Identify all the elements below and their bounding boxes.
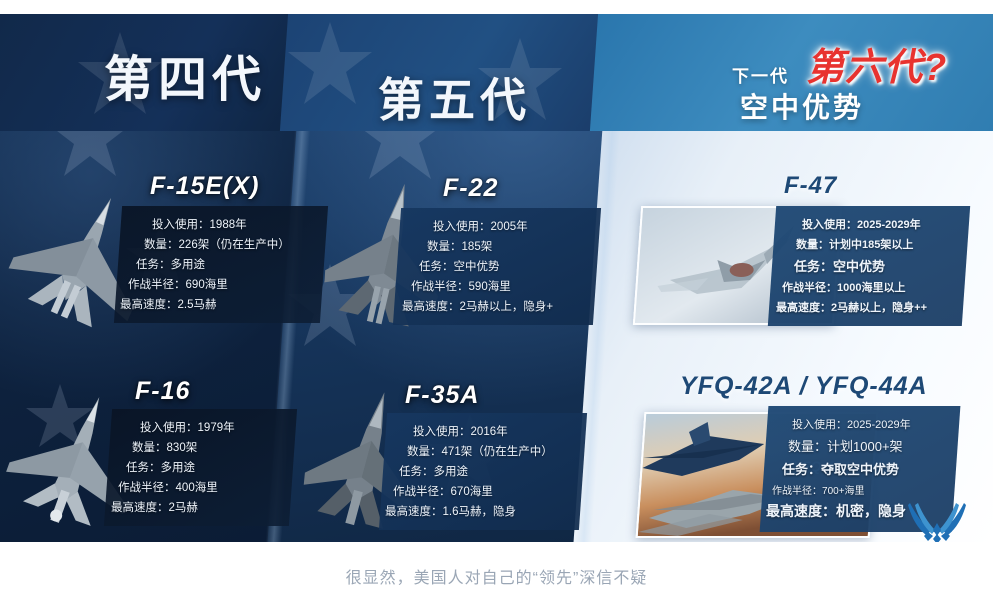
aircraft-specs-f47: 投入使用：2025-2029年 数量：计划中185架以上 任务：空中优势 作战半…	[768, 206, 970, 326]
spec-mission: 任务：空中优势	[794, 256, 950, 275]
aircraft-specs-f22: 投入使用：2005年 数量：185架 任务：空中优势 作战半径：590海里 最高…	[393, 208, 601, 325]
spec-top-speed: 最高速度：2马赫以上，隐身+	[402, 298, 581, 314]
spec-service-entry: 投入使用：2025-2029年	[802, 216, 950, 232]
gen6-air-superiority-label: 空中优势	[740, 86, 864, 126]
aircraft-name-f22: F-22	[443, 174, 498, 203]
spec-quantity: 数量：830架	[132, 439, 277, 455]
spec-service-entry: 投入使用：2016年	[413, 423, 567, 439]
spec-mission: 任务：多用途	[126, 459, 277, 475]
aircraft-name-yfq: YFQ-42A / YFQ-44A	[680, 372, 928, 401]
aircraft-specs-f15: 投入使用：1988年 数量：226架（仍在生产中） 任务：多用途 作战半径：69…	[114, 206, 328, 323]
spec-combat-radius: 作战半径：670海里	[393, 483, 567, 499]
spec-mission: 任务：夺取空中优势	[782, 459, 940, 478]
spec-top-speed: 最高速度：1.6马赫，隐身	[385, 503, 567, 519]
aircraft-name-f35: F-35A	[405, 381, 479, 410]
spec-service-entry: 投入使用：1979年	[140, 419, 277, 435]
page-title-gen6-group: 下一代 第六代? 空中优势	[700, 36, 950, 128]
aircraft-name-f47: F-47	[784, 172, 837, 200]
spec-service-entry: 投入使用：1988年	[152, 216, 308, 232]
aircraft-name-f15: F-15E(X)	[150, 172, 259, 201]
spec-top-speed: 最高速度：2马赫以上，隐身++	[776, 299, 950, 315]
spec-quantity: 数量：计划中185架以上	[796, 236, 950, 252]
spec-service-entry: 投入使用：2025-2029年	[792, 416, 940, 432]
spec-top-speed: 最高速度：2马赫	[111, 499, 277, 515]
gen6-next-generation-label: 下一代	[732, 62, 789, 87]
spec-quantity: 数量：计划1000+架	[788, 436, 940, 455]
spec-mission: 任务：空中优势	[419, 258, 581, 274]
spec-quantity: 数量：471架（仍在生产中）	[407, 443, 567, 459]
infographic-canvas: 第四代 第五代 下一代 第六代? 空中优势 F-15E(X) 投入使用：1988…	[0, 14, 993, 542]
aircraft-specs-f35: 投入使用：2016年 数量：471架（仍在生产中） 任务：多用途 作战半径：67…	[379, 413, 587, 530]
spec-combat-radius: 作战半径：690海里	[128, 276, 308, 292]
page-title-gen4: 第四代	[104, 40, 266, 111]
spec-mission: 任务：多用途	[136, 256, 308, 272]
page-title-gen5: 第五代	[378, 64, 531, 130]
usaf-wings-logo-icon	[906, 501, 968, 542]
spec-service-entry: 投入使用：2005年	[433, 218, 581, 234]
spec-combat-radius: 作战半径：590海里	[411, 278, 581, 294]
spec-quantity: 数量：185架	[427, 238, 581, 254]
spec-combat-radius: 作战半径：700+海里	[772, 482, 940, 497]
generation-header-band: 第四代 第五代 下一代 第六代? 空中优势	[0, 14, 993, 131]
spec-top-speed: 最高速度：2.5马赫	[120, 296, 308, 312]
gen6-headline-label: 第六代?	[806, 36, 947, 91]
spec-quantity: 数量：226架（仍在生产中）	[144, 236, 308, 252]
spec-mission: 任务：多用途	[399, 463, 567, 479]
spec-combat-radius: 作战半径：1000海里以上	[782, 279, 950, 295]
figure-caption: 很显然，美国人对自己的“领先”深信不疑	[0, 564, 993, 588]
aircraft-specs-f16: 投入使用：1979年 数量：830架 任务：多用途 作战半径：400海里 最高速…	[104, 409, 297, 526]
spec-combat-radius: 作战半径：400海里	[118, 479, 277, 495]
aircraft-name-f16: F-16	[135, 377, 190, 406]
